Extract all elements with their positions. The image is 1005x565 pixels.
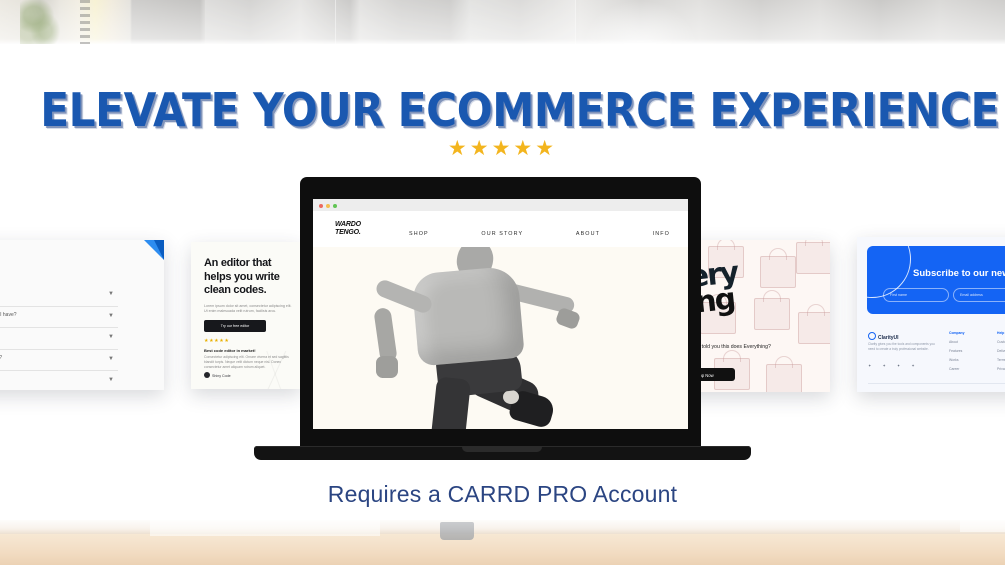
person-left-leg	[428, 377, 470, 429]
site-logo-line1: WARDO	[335, 221, 361, 229]
chevron-down-icon[interactable]: ▼	[108, 377, 114, 383]
preview-card-subscribe[interactable]: Subscribe to our newsletter First name E…	[857, 237, 1005, 392]
first-name-input[interactable]: First name	[883, 288, 949, 302]
desk-cup	[440, 522, 474, 540]
footer-link[interactable]: Customer Support	[997, 340, 1005, 344]
footer-link[interactable]: Works	[949, 358, 993, 362]
footer-logo-label: ClarityUI	[878, 335, 899, 341]
person-torso	[411, 266, 525, 367]
preview-card-faq[interactable]: FAQs Are you a designer? ▼ How many site…	[0, 240, 164, 390]
curtain	[1000, 0, 1005, 44]
chevron-down-icon[interactable]: ▼	[108, 291, 114, 297]
site-navbar: WARDO TENGO. SHOP OUR STORY ABOUT INFO	[313, 211, 688, 247]
plant-decoration	[20, 0, 66, 44]
person-right-hand	[554, 307, 580, 330]
footer-link[interactable]: Career	[949, 367, 993, 371]
chain-decoration	[80, 0, 90, 44]
ribbon-fold-icon	[154, 240, 164, 260]
close-dot-icon[interactable]	[319, 204, 323, 208]
nav-item-our-story[interactable]: OUR STORY	[481, 231, 523, 237]
editor-rating-stars: ★★★★★	[204, 338, 229, 344]
curtain	[580, 0, 700, 44]
top-background-photo	[0, 0, 1005, 44]
laptop-notch	[462, 447, 542, 452]
faq-row[interactable]: Can I cancel? ▼	[0, 328, 118, 350]
site-logo-line2: TENGO.	[335, 229, 361, 237]
laptop-screen: WARDO TENGO. SHOP OUR STORY ABOUT INFO	[313, 199, 688, 429]
editor-logo-mark-icon	[204, 372, 210, 378]
laptop-lid: WARDO TENGO. SHOP OUR STORY ABOUT INFO	[300, 177, 701, 451]
chevron-down-icon[interactable]: ▼	[108, 313, 114, 319]
faq-row[interactable]: Do you offer refunds? ▼	[0, 350, 118, 372]
site-logo[interactable]: WARDO TENGO.	[335, 221, 361, 237]
footer-link[interactable]: Features	[949, 349, 993, 353]
faq-question: How many sites can I have?	[0, 312, 17, 318]
rating-stars: ★★★★★	[0, 138, 1005, 160]
person-knee-rip	[503, 390, 519, 404]
nav-item-info[interactable]: INFO	[653, 231, 670, 237]
clarity-logo-icon	[868, 332, 876, 340]
browser-title-bar	[313, 199, 688, 211]
email-placeholder: Email address	[960, 293, 983, 297]
editor-logo: Shiny Code	[204, 372, 231, 378]
editor-subheading: Best code editor in market!	[204, 348, 256, 353]
footer-divider	[868, 383, 1005, 384]
hero-person-photo	[361, 254, 581, 429]
window-pane	[205, 0, 336, 44]
page-title: ELEVATE YOUR ECOMMERCE EXPERIENCE	[40, 84, 965, 136]
person-left-arm-lower	[373, 307, 397, 363]
newsletter-panel: Subscribe to our newsletter First name E…	[867, 246, 1005, 314]
footer-description: Clarity gives you the tools and componen…	[868, 342, 936, 351]
faq-question: Do you offer refunds?	[0, 355, 2, 361]
editor-logo-label: Shiny Code	[212, 374, 231, 378]
desk-object	[150, 520, 380, 536]
site-hero-image	[313, 247, 688, 429]
screenshot-stage: ELEVATE YOUR ECOMMERCE EXPERIENCE ★★★★★ …	[0, 0, 1005, 565]
chevron-down-icon[interactable]: ▼	[108, 334, 114, 340]
laptop-base	[254, 446, 751, 460]
footer-link[interactable]: About	[949, 340, 993, 344]
social-icons[interactable]: ✦ ✦ ✦ ✦	[868, 363, 920, 368]
tote-bag-icon	[798, 312, 830, 344]
chevron-down-icon[interactable]: ▼	[108, 356, 114, 362]
tote-bag-icon	[766, 364, 802, 392]
footer-link[interactable]: Privacy Policy	[997, 367, 1005, 371]
footer-link[interactable]: Delivery Details	[997, 349, 1005, 353]
laptop-mockup: WARDO TENGO. SHOP OUR STORY ABOUT INFO	[254, 177, 751, 460]
desk-surface	[0, 534, 1005, 565]
footer-column-company: Company About Features Works Career	[949, 331, 993, 376]
bottom-background-photo	[0, 520, 1005, 565]
minimize-dot-icon[interactable]	[326, 204, 330, 208]
requires-pro-caption: Requires a CARRD PRO Account	[0, 481, 1005, 508]
footer-column-help: Help Customer Support Delivery Details T…	[997, 331, 1005, 376]
newsletter-heading: Subscribe to our newsletter	[913, 268, 1005, 279]
faq-row[interactable]: Are you a designer? ▼	[0, 285, 118, 307]
nav-item-about[interactable]: ABOUT	[576, 231, 600, 237]
footer-column-heading: Help	[997, 331, 1005, 335]
faq-row[interactable]: How many sites can I have? ▼	[0, 307, 118, 329]
nav-item-shop[interactable]: SHOP	[409, 231, 429, 237]
email-input[interactable]: Email address	[953, 288, 1005, 302]
footer-column-heading: Company	[949, 331, 993, 335]
footer-logo: ClarityUI	[868, 332, 899, 341]
person-left-hand	[376, 356, 398, 378]
desk-object	[960, 520, 1005, 532]
maximize-dot-icon[interactable]	[333, 204, 337, 208]
faq-row[interactable]: Need more help? ▼	[0, 371, 118, 390]
faq-accordion-list: Are you a designer? ▼ How many sites can…	[0, 285, 118, 390]
footer-link[interactable]: Terms & Conditions	[997, 358, 1005, 362]
window-pane	[335, 0, 576, 44]
first-name-placeholder: First name	[890, 293, 907, 297]
site-nav-links: SHOP OUR STORY ABOUT INFO	[409, 231, 670, 237]
tote-bag-icon	[796, 242, 830, 274]
